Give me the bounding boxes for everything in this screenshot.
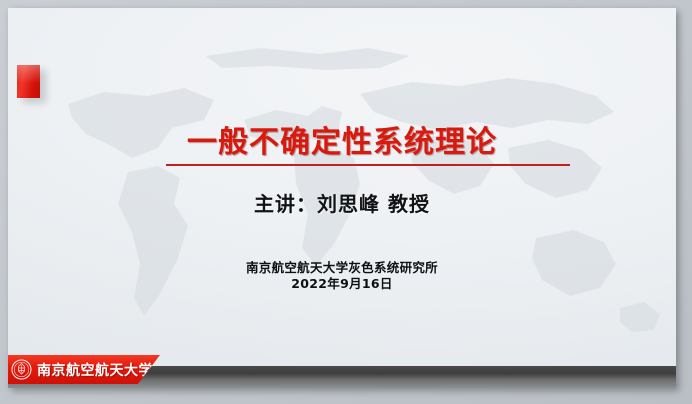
slide-canvas: 一般不确定性系统理论 主讲：刘思峰 教授 南京航空航天大学灰色系统研究所 202… — [8, 8, 676, 388]
title-underline-rule — [166, 164, 570, 166]
decorative-red-ribbon — [17, 65, 40, 98]
title-block: 一般不确定性系统理论 — [8, 126, 676, 160]
event-date-text: 2022年9月16日 — [8, 276, 676, 292]
university-name-text: 南京航空航天大学 — [37, 360, 153, 380]
presentation-viewer: 一般不确定性系统理论 主讲：刘思峰 教授 南京航空航天大学灰色系统研究所 202… — [0, 0, 692, 404]
affiliation-block: 南京航空航天大学灰色系统研究所 2022年9月16日 — [8, 260, 676, 292]
university-banner: 南京航空航天大学 — [8, 355, 160, 384]
university-seal-icon — [11, 359, 32, 380]
affiliation-text: 南京航空航天大学灰色系统研究所 — [8, 260, 676, 276]
slide-title: 一般不确定性系统理论 — [8, 126, 676, 160]
speaker-line: 主讲：刘思峰 教授 — [8, 188, 676, 217]
